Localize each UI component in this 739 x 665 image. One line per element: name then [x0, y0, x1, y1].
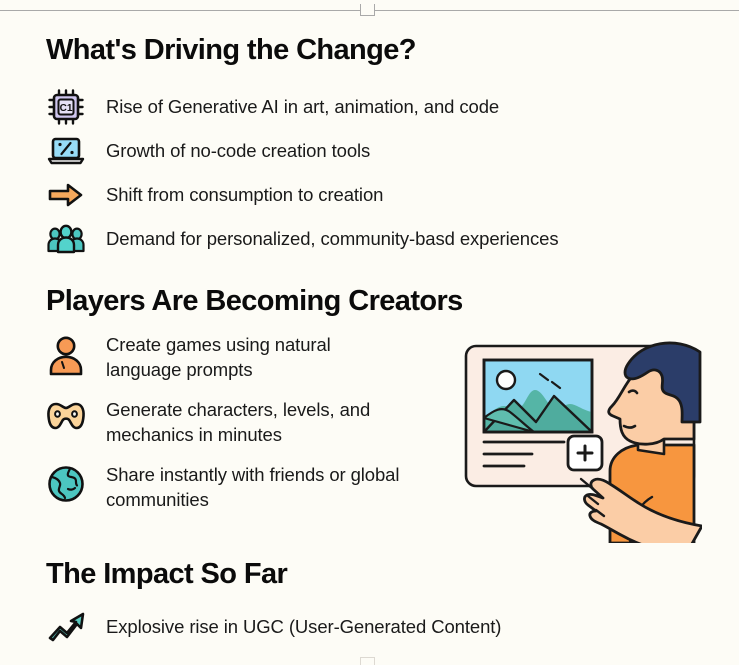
globe-icon: [46, 462, 92, 504]
list-item: Shift from consumption to creation: [46, 173, 706, 217]
list-item-label: Demand for personalized, community-basd …: [106, 228, 559, 250]
add-plus-button[interactable]: [568, 436, 602, 470]
section-impact: The Impact So Far Explosive rise in UGC …: [46, 559, 706, 649]
list-item-label: Explosive rise in UGC (User-Generated Co…: [106, 616, 501, 638]
list-item-label: Growth of no-code creation tools: [106, 140, 370, 162]
section-drivers-heading: What's Driving the Change?: [46, 35, 706, 67]
list-item-label: Create games using natural language prom…: [106, 332, 406, 382]
list-item: Share instantly with friends or global c…: [46, 462, 466, 512]
list-item: Explosive rise in UGC (User-Generated Co…: [46, 605, 706, 649]
trending-up-icon: [46, 609, 92, 645]
arrow-right-icon: [46, 175, 92, 215]
section-drivers: What's Driving the Change? C1 Rise of Ge…: [46, 35, 706, 261]
list-item: Growth of no-code creation tools: [46, 129, 706, 173]
section-players-creators: Players Are Becoming Creators Create gam…: [46, 286, 466, 527]
section-impact-heading: The Impact So Far: [46, 559, 706, 591]
cpu-chip-icon: C1: [46, 87, 92, 127]
person-creating-content-illustration: [462, 338, 702, 543]
user-person-icon: [46, 332, 92, 376]
gamepad-icon: [46, 397, 92, 433]
list-item: Demand for personalized, community-basd …: [46, 217, 706, 261]
document-page: What's Driving the Change? C1 Rise of Ge…: [0, 11, 739, 665]
list-item: Generate characters, levels, and mechani…: [46, 397, 466, 447]
list-item-label: Share instantly with friends or global c…: [106, 462, 406, 512]
section-players-heading: Players Are Becoming Creators: [46, 286, 466, 318]
svg-text:C1: C1: [60, 103, 73, 114]
list-item-label: Rise of Generative AI in art, animation,…: [106, 96, 499, 118]
list-item: C1 Rise of Generative AI in art, animati…: [46, 85, 706, 129]
list-item: Create games using natural language prom…: [46, 332, 466, 382]
laptop-code-icon: [46, 131, 92, 171]
people-group-icon: [46, 219, 92, 259]
list-item-label: Shift from consumption to creation: [106, 184, 383, 206]
list-item-label: Generate characters, levels, and mechani…: [106, 397, 406, 447]
